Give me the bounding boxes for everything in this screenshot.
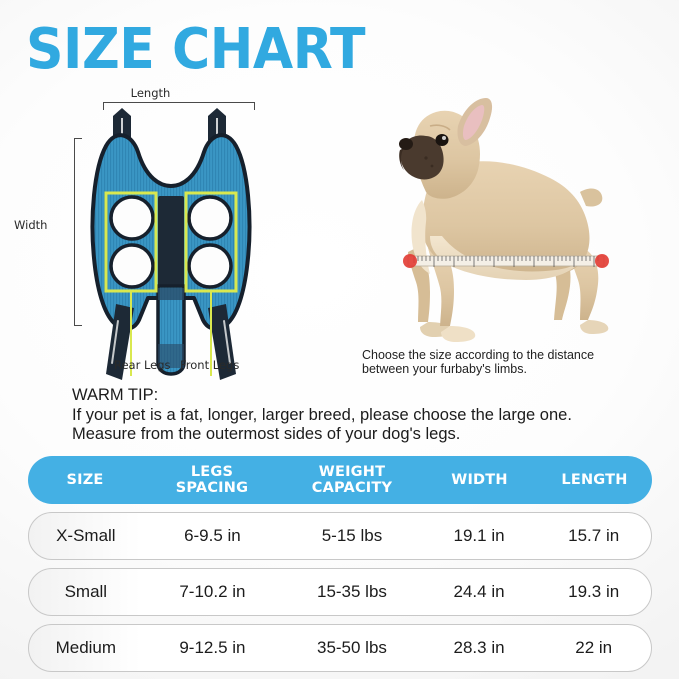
- table-row: Medium 9-12.5 in 35-50 lbs 28.3 in 22 in: [28, 624, 652, 672]
- cell-size: Medium: [29, 638, 143, 658]
- measuring-ruler: [403, 254, 609, 268]
- dog-harness-illustration: [86, 108, 256, 383]
- table-row: Small 7-10.2 in 15-35 lbs 24.4 in 19.3 i…: [28, 568, 652, 616]
- cell-length: 15.7 in: [536, 526, 651, 546]
- cell-length: 22 in: [536, 638, 651, 658]
- size-chart-page: SIZE CHART Length Width: [0, 0, 679, 679]
- length-dimension-label: Length: [8, 86, 293, 100]
- warm-tip-heading: WARM TIP:: [72, 386, 672, 406]
- cell-legs-spacing: 7-10.2 in: [143, 582, 283, 602]
- cell-width: 28.3 in: [422, 638, 537, 658]
- cell-length: 19.3 in: [536, 582, 651, 602]
- photo-caption: Choose the size according to the distanc…: [362, 348, 662, 376]
- ruler-end-marker: [595, 254, 609, 268]
- french-bulldog-illustration: [330, 96, 670, 346]
- column-header-legs-spacing: LEGS SPACING: [142, 464, 282, 496]
- dog-eye: [436, 134, 449, 146]
- page-title: SIZE CHART: [26, 22, 365, 78]
- front-legs-label: Front Legs: [180, 358, 239, 372]
- rear-legs-label: Rear Legs: [114, 358, 171, 372]
- warm-tip-line-1: If your pet is a fat, longer, larger bre…: [72, 406, 672, 426]
- cell-width: 24.4 in: [422, 582, 537, 602]
- table-row: X-Small 6-9.5 in 5-15 lbs 19.1 in 15.7 i…: [28, 512, 652, 560]
- cell-weight-capacity: 15-35 lbs: [282, 582, 422, 602]
- dog-photo: [330, 96, 670, 346]
- cell-weight-capacity: 5-15 lbs: [282, 526, 422, 546]
- cell-size: X-Small: [29, 526, 143, 546]
- cell-legs-spacing: 9-12.5 in: [143, 638, 283, 658]
- column-header-width: WIDTH: [422, 472, 537, 488]
- cell-legs-spacing: 6-9.5 in: [143, 526, 283, 546]
- width-dimension-label: Width: [14, 218, 47, 232]
- column-header-length: LENGTH: [537, 472, 652, 488]
- photo-caption-line-2: between your furbaby's limbs.: [362, 362, 662, 376]
- warm-tip-line-2: Measure from the outermost sides of your…: [72, 425, 672, 445]
- photo-caption-line-1: Choose the size according to the distanc…: [362, 348, 662, 362]
- harness-center-panel: [158, 196, 184, 288]
- cell-weight-capacity: 35-50 lbs: [282, 638, 422, 658]
- column-header-weight-capacity: WEIGHT CAPACITY: [282, 464, 422, 496]
- cell-width: 19.1 in: [422, 526, 537, 546]
- harness-diagram: Length Width: [8, 86, 293, 386]
- width-bracket: [74, 138, 82, 326]
- warm-tip-block: WARM TIP: If your pet is a fat, longer, …: [72, 386, 672, 445]
- ruler-start-marker: [403, 254, 417, 268]
- size-table: SIZE LEGS SPACING WEIGHT CAPACITY WIDTH …: [28, 456, 652, 679]
- table-header-row: SIZE LEGS SPACING WEIGHT CAPACITY WIDTH …: [28, 456, 652, 504]
- column-header-size: SIZE: [28, 472, 142, 488]
- cell-size: Small: [29, 582, 143, 602]
